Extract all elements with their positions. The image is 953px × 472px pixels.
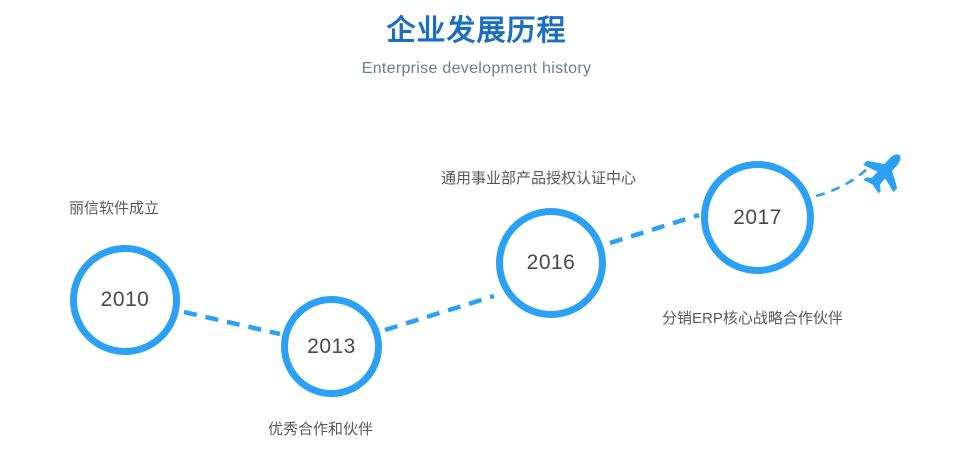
milestone-label-2010: 丽信软件成立 (69, 199, 159, 219)
milestone-node-2013[interactable]: 2013 (281, 296, 382, 397)
timeline-infographic: 企业发展历程 Enterprise development history 20… (0, 0, 953, 472)
milestone-label-2016: 通用事业部产品授权认证中心 (441, 169, 636, 189)
milestone-node-2010[interactable]: 2010 (70, 245, 180, 355)
milestone-year: 2010 (101, 288, 150, 312)
milestone-year: 2016 (527, 251, 576, 275)
connector-2016-2017 (610, 215, 699, 243)
milestone-label-2017: 分销ERP核心战略合作伙伴 (662, 309, 843, 329)
milestone-year: 2017 (733, 206, 782, 230)
milestone-node-2017[interactable]: 2017 (701, 161, 814, 274)
connector-2013-2016 (385, 296, 494, 330)
milestone-node-2016[interactable]: 2016 (496, 208, 606, 318)
milestone-label-2013: 优秀合作和伙伴 (268, 420, 373, 440)
connector-2017-plane (816, 166, 870, 196)
milestone-year: 2013 (307, 335, 356, 359)
connector-2010-2013 (184, 312, 280, 334)
